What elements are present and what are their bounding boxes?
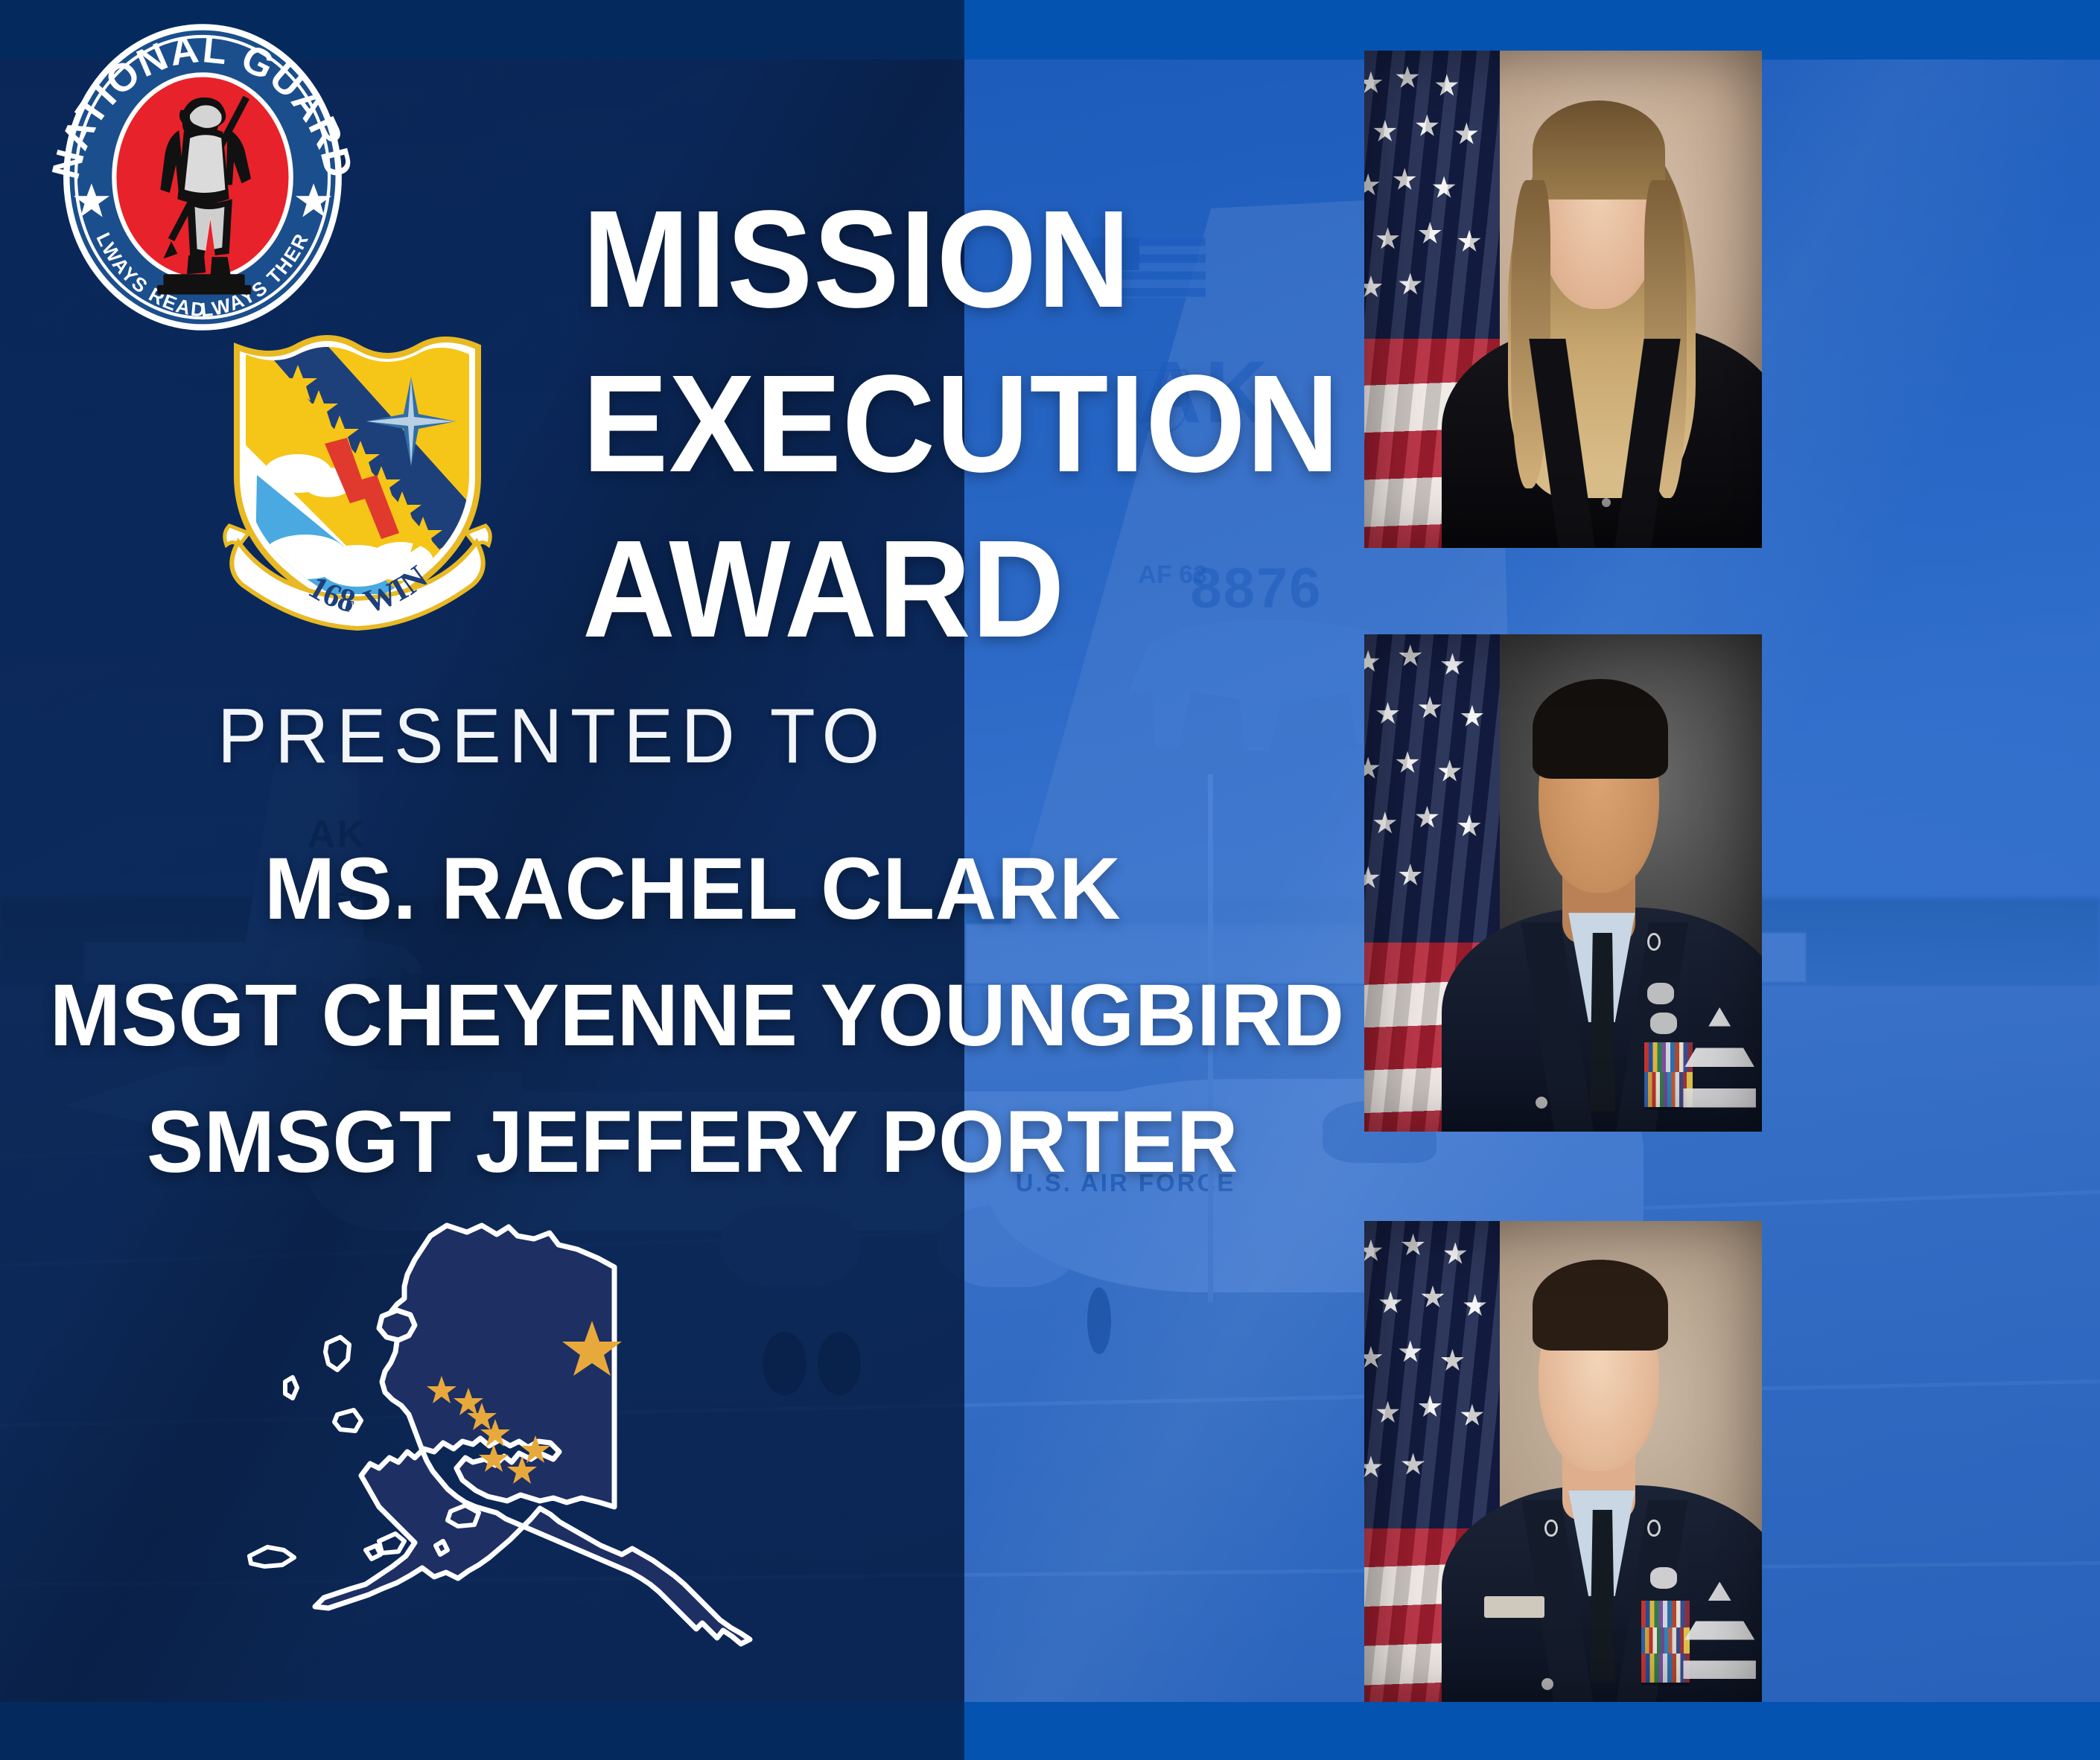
presented-to-label: PRESENTED TO bbox=[217, 692, 888, 781]
portrait-vignette bbox=[1364, 634, 1762, 1132]
title-line-3: AWARD bbox=[582, 507, 1317, 672]
award-poster: AK AF 63 8876 AK 1521 U.S. AIR FORCE bbox=[0, 0, 2100, 1760]
national-guard-seal-icon: NATIONAL GUARD ALWAYS READY ALWAYS THERE bbox=[46, 21, 359, 334]
168th-wing-emblem-icon: 168 TH WING bbox=[216, 334, 499, 631]
title-line-1: MISSION bbox=[582, 177, 1317, 342]
portrait-vignette bbox=[1364, 51, 1762, 548]
award-title: MISSION EXECUTION AWARD bbox=[582, 177, 1317, 672]
title-line-2: EXECUTION bbox=[582, 342, 1317, 506]
portrait-cheyenne-youngbird bbox=[1364, 634, 1762, 1132]
recipient-name-1: MS. RACHEL CLARK bbox=[50, 826, 1336, 953]
portrait-rachel-clark bbox=[1364, 51, 1762, 548]
recipient-name-2: MSGT CHEYENNE YOUNGBIRD bbox=[50, 953, 1336, 1080]
portrait-vignette bbox=[1364, 1221, 1762, 1702]
portrait-jeffery-porter bbox=[1364, 1221, 1762, 1702]
recipient-names: MS. RACHEL CLARK MSGT CHEYENNE YOUNGBIRD… bbox=[30, 826, 1355, 1206]
recipient-name-3: SMSGT JEFFERY PORTER bbox=[50, 1080, 1336, 1206]
bottom-band-right bbox=[964, 1702, 2100, 1760]
alaska-state-map-icon bbox=[216, 1206, 819, 1727]
